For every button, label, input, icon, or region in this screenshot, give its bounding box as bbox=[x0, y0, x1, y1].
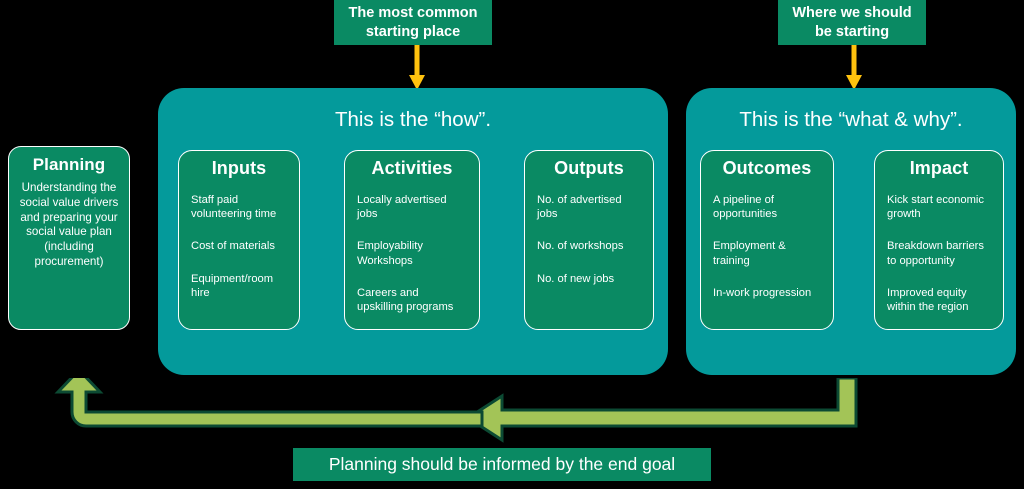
container-what-why-heading: This is the “what & why”. bbox=[686, 108, 1016, 132]
planning-card-body: Understanding the social value drivers a… bbox=[15, 181, 123, 270]
callout-most-common-starting-place: The most common starting place bbox=[334, 0, 492, 45]
card-activities: Activities Locally advertised jobs Emplo… bbox=[344, 150, 480, 330]
card-bullet: Staff paid volunteering time bbox=[191, 193, 287, 221]
callout-label: The most common starting place bbox=[342, 4, 484, 40]
card-title: Inputs bbox=[191, 158, 287, 179]
callout-label: Where we should be starting bbox=[786, 4, 918, 40]
card-bullet: No. of workshops bbox=[537, 239, 641, 253]
card-bullet: Equipment/room hire bbox=[191, 272, 287, 300]
card-outcomes: Outcomes A pipeline of opportunities Emp… bbox=[700, 150, 834, 330]
diagram-canvas: The most common starting place Where we … bbox=[0, 0, 1024, 489]
card-bullet: Improved equity within the region bbox=[887, 286, 991, 314]
card-bullet: A pipeline of opportunities bbox=[713, 193, 821, 221]
card-bullet: Breakdown barriers to opportunity bbox=[887, 239, 991, 267]
card-bullet: In-work progression bbox=[713, 286, 821, 300]
feedback-banner-label: Planning should be informed by the end g… bbox=[329, 454, 675, 475]
container-how-heading: This is the “how”. bbox=[158, 108, 668, 132]
feedback-loop-arrow-icon bbox=[50, 378, 880, 450]
card-outputs: Outputs No. of advertised jobs No. of wo… bbox=[524, 150, 654, 330]
callout-where-we-should-be-starting: Where we should be starting bbox=[778, 0, 926, 45]
card-bullet: Locally advertised jobs bbox=[357, 193, 467, 221]
card-bullet: No. of new jobs bbox=[537, 272, 641, 286]
card-title: Outputs bbox=[537, 158, 641, 179]
card-bullet: Careers and upskilling programs bbox=[357, 286, 467, 314]
card-bullet: Kick start economic growth bbox=[887, 193, 991, 221]
card-inputs: Inputs Staff paid volunteering time Cost… bbox=[178, 150, 300, 330]
card-bullet: No. of advertised jobs bbox=[537, 193, 641, 221]
yellow-down-arrow-icon bbox=[843, 45, 865, 91]
feedback-banner: Planning should be informed by the end g… bbox=[293, 448, 711, 481]
yellow-down-arrow-icon bbox=[406, 45, 428, 91]
card-impact: Impact Kick start economic growth Breakd… bbox=[874, 150, 1004, 330]
card-title: Impact bbox=[887, 158, 991, 179]
planning-card-title: Planning bbox=[15, 155, 123, 175]
card-title: Outcomes bbox=[713, 158, 821, 179]
card-bullet: Employability Workshops bbox=[357, 239, 467, 267]
card-title: Activities bbox=[357, 158, 467, 179]
card-bullet: Employment & training bbox=[713, 239, 821, 267]
planning-card: Planning Understanding the social value … bbox=[8, 146, 130, 330]
card-bullet: Cost of materials bbox=[191, 239, 287, 253]
